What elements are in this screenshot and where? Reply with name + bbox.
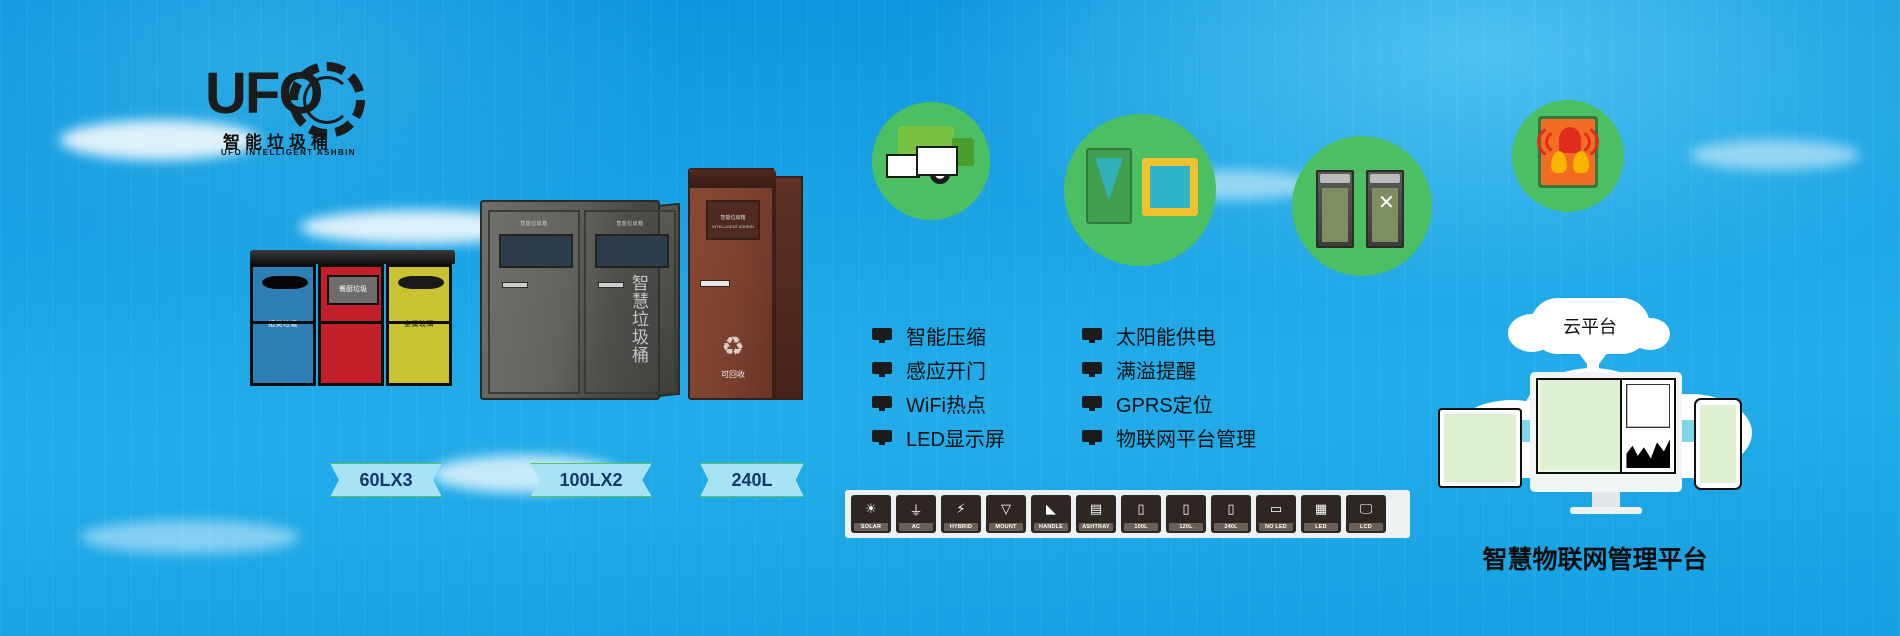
spec-icon-led: ▦ LED (1301, 495, 1341, 533)
spec-icon-ashtray: ▤ ASHTRAY (1076, 495, 1116, 533)
bin-display-screen (499, 234, 573, 268)
feature-label: GPRS定位 (1116, 389, 1213, 418)
cloud-decoration (80, 520, 300, 554)
bin-panel-label: 餐厨垃圾 (329, 277, 377, 303)
bin-120l-icon: ▯ (1166, 498, 1206, 520)
feature-label: 物联网平台管理 (1116, 423, 1256, 452)
bin-top-cover (250, 250, 455, 264)
spec-icon-120l: ▯ 120L (1166, 495, 1206, 533)
spec-label: MOUNT (989, 523, 1023, 531)
spec-label: ASHTRAY (1079, 523, 1113, 531)
compaction-bin-icon: ✕ (1366, 170, 1404, 248)
feature-circle-smart-collection-truck (872, 102, 990, 220)
feature-column-right: 太阳能供电 满溢提醒 GPRS定位 物联网平台管理 (1082, 318, 1256, 454)
platform-caption: 智慧物联网管理平台 (1430, 540, 1760, 576)
monitor-stand (1592, 492, 1620, 508)
capacity-ribbon-240l: 240L (700, 463, 804, 497)
ashtray-icon: ▤ (1076, 498, 1116, 520)
spec-icon-mount: ▽ MOUNT (986, 495, 1026, 533)
feature-circle-fire-alarm (1512, 100, 1624, 212)
feature-item: LED显示屏 (872, 420, 1005, 454)
lightning-icon: ⚡ (941, 498, 981, 520)
capacity-ribbon-100lx2: 100LX2 (530, 463, 652, 497)
cloud-platform-badge: 云平台 (1530, 298, 1650, 354)
brand-logo: UFO 智能垃圾桶 UFO INTELLIGENT ASHBIN (205, 52, 375, 157)
fill-level-indicator (1150, 166, 1190, 208)
lcd-icon: 🖵 (1346, 498, 1386, 520)
bin-240l-icon: ▯ (1211, 498, 1251, 520)
spec-icon-hybrid: ⚡ HYBRID (941, 495, 981, 533)
feature-label: 智能压缩 (906, 321, 986, 350)
monitor-base (1570, 507, 1642, 514)
monitor-icon (872, 328, 892, 343)
spec-label: SOLAR (854, 523, 888, 531)
tablet-screen (1444, 414, 1516, 482)
arrow-down-icon (1578, 352, 1608, 372)
spec-label: NO LED (1259, 523, 1293, 531)
spec-label: LCD (1349, 523, 1383, 531)
bin-handle-icon (700, 280, 730, 287)
spec-label: HYBRID (944, 523, 978, 531)
fill-level-panel-icon (1142, 158, 1198, 216)
bin-window (1322, 188, 1348, 242)
spec-icon-handle: ◣ HANDLE (1031, 495, 1071, 533)
chart-grid (1626, 384, 1670, 428)
mount-icon: ▽ (986, 498, 1026, 520)
bin-panel-recyclable: 纸类垃圾 (250, 264, 316, 386)
spec-icon-strip: ☀ SOLAR ⏚ AC ⚡ HYBRID ▽ MOUNT ◣ HANDLE ▤… (845, 490, 1410, 538)
bin-display-screen (595, 234, 669, 268)
handle-icon: ◣ (1031, 498, 1071, 520)
spec-label: LED (1304, 523, 1338, 531)
bin-door-label: 智能垃圾箱 (490, 220, 578, 227)
bin-door-label: 智能垃圾箱 (586, 220, 674, 227)
bin-handle-icon (598, 282, 624, 288)
spec-label: AC (899, 523, 933, 531)
device-tablet-icon (886, 154, 920, 178)
alarm-wave-icon (1537, 121, 1599, 163)
spec-icon-ac: ⏚ AC (896, 495, 936, 533)
bin-panel-metal-glass: 金属玻璃 (386, 264, 452, 386)
device-laptop-icon (916, 146, 958, 176)
product-brown-recycle-bin: 智能垃圾箱 INTELLIGENT ASHBIN ♻ 可回收 (688, 168, 803, 400)
plug-icon: ⏚ (896, 498, 936, 520)
bin-100l-icon: ▯ (1121, 498, 1161, 520)
feature-item: 感应开门 (872, 352, 1005, 386)
feature-item: 满溢提醒 (1082, 352, 1256, 386)
bin-recycle-label: 可回收 (690, 369, 776, 380)
cloud-decoration (1690, 140, 1860, 170)
logo-english-tagline: UFO INTELLIGENT ASHBIN (221, 148, 356, 157)
cloud-platform-label: 云平台 (1563, 313, 1617, 339)
waste-slot-icon (398, 276, 444, 289)
bin-body: 智能垃圾箱 INTELLIGENT ASHBIN ♻ 可回收 (688, 168, 774, 400)
waste-slot-icon (262, 276, 308, 289)
dashboard-chart (1620, 380, 1674, 472)
monitor-icon (872, 362, 892, 377)
feature-column-left: 智能压缩 感应开门 WiFi热点 LED显示屏 (872, 318, 1005, 454)
feature-circle-sensor-fill-detection (1064, 114, 1216, 266)
bin-lower-door (389, 321, 449, 383)
feature-circle-waste-compaction: ✕ (1292, 136, 1432, 276)
feature-label: LED显示屏 (906, 423, 1005, 452)
bin-door-left: 智能垃圾箱 (488, 210, 580, 394)
product-triple-sorting-bin: 纸类垃圾 餐厨垃圾 金属玻璃 (250, 250, 455, 400)
bin-panel-kitchen-waste: 餐厨垃圾 (318, 264, 384, 386)
feature-label: 满溢提醒 (1116, 355, 1196, 384)
feature-item: 智能压缩 (872, 318, 1005, 352)
logo-inner-ring-icon (303, 76, 351, 124)
feature-label: 感应开门 (906, 355, 986, 384)
spec-label: 100L (1124, 523, 1158, 531)
phone-screen (1700, 405, 1736, 483)
capacity-ribbon-60lx3: 60LX3 (330, 463, 442, 497)
fire-alarm-bin-icon (1538, 116, 1598, 188)
feature-item: 物联网平台管理 (1082, 420, 1256, 454)
feature-item: 太阳能供电 (1082, 318, 1256, 352)
spec-icon-no-led: ▭ NO LED (1256, 495, 1296, 533)
bin-lid-icon (1320, 174, 1350, 183)
desktop-monitor (1530, 372, 1682, 492)
monitor-icon (872, 430, 892, 445)
bin-screen-line2: INTELLIGENT ASHBIN (708, 224, 758, 229)
led-icon: ▦ (1301, 498, 1341, 520)
feature-item: GPRS定位 (1082, 386, 1256, 420)
feature-label: 太阳能供电 (1116, 321, 1216, 350)
monitor-screen (1536, 378, 1676, 474)
spec-icon-lcd: 🖵 LCD (1346, 495, 1386, 533)
bin-screen-line1: 智能垃圾箱 (708, 214, 758, 221)
bin-handle-icon (502, 282, 528, 288)
bin-lid (690, 170, 776, 188)
sensor-beam-icon (1095, 158, 1123, 200)
sun-icon: ☀ (851, 498, 891, 520)
bin-lower-door (321, 321, 381, 383)
tablet-device (1438, 408, 1522, 488)
mobile-phone-device (1694, 398, 1742, 490)
spec-icon-solar: ☀ SOLAR (851, 495, 891, 533)
recycle-symbol-icon: ♻ (690, 331, 776, 362)
bin-panel-plate: 餐厨垃圾 (327, 275, 379, 305)
compaction-x-icon: ✕ (1378, 190, 1395, 215)
no-led-icon: ▭ (1256, 498, 1296, 520)
bin-display-screen: 智能垃圾箱 INTELLIGENT ASHBIN (706, 200, 760, 240)
bin-side-panel (774, 176, 803, 400)
dashboard-map (1538, 380, 1620, 472)
bin-lid-icon (1370, 174, 1400, 183)
bin-body: 智能垃圾箱 智能垃圾箱 智慧垃圾桶 (480, 200, 660, 400)
monitor-icon (1082, 430, 1102, 445)
spec-label: HANDLE (1034, 523, 1068, 531)
chart-area-series (1626, 436, 1670, 468)
compaction-bin-icon (1316, 170, 1354, 248)
monitor-icon (872, 396, 892, 411)
spec-label: 120L (1169, 523, 1203, 531)
product-double-smart-bin: 智能垃圾箱 智能垃圾箱 智慧垃圾桶 (480, 200, 660, 400)
feature-label: WiFi热点 (906, 389, 986, 418)
spec-label: 240L (1214, 523, 1248, 531)
feature-item: WiFi热点 (872, 386, 1005, 420)
bin-vertical-text: 智慧垃圾桶 (628, 274, 648, 364)
bin-lower-door (253, 321, 313, 383)
monitor-icon (1082, 328, 1102, 343)
monitor-icon (1082, 362, 1102, 377)
spec-icon-240l: ▯ 240L (1211, 495, 1251, 533)
product-banner: UFO 智能垃圾桶 UFO INTELLIGENT ASHBIN 纸类垃圾 餐厨… (0, 0, 1900, 636)
spec-icon-100l: ▯ 100L (1121, 495, 1161, 533)
monitor-icon (1082, 396, 1102, 411)
